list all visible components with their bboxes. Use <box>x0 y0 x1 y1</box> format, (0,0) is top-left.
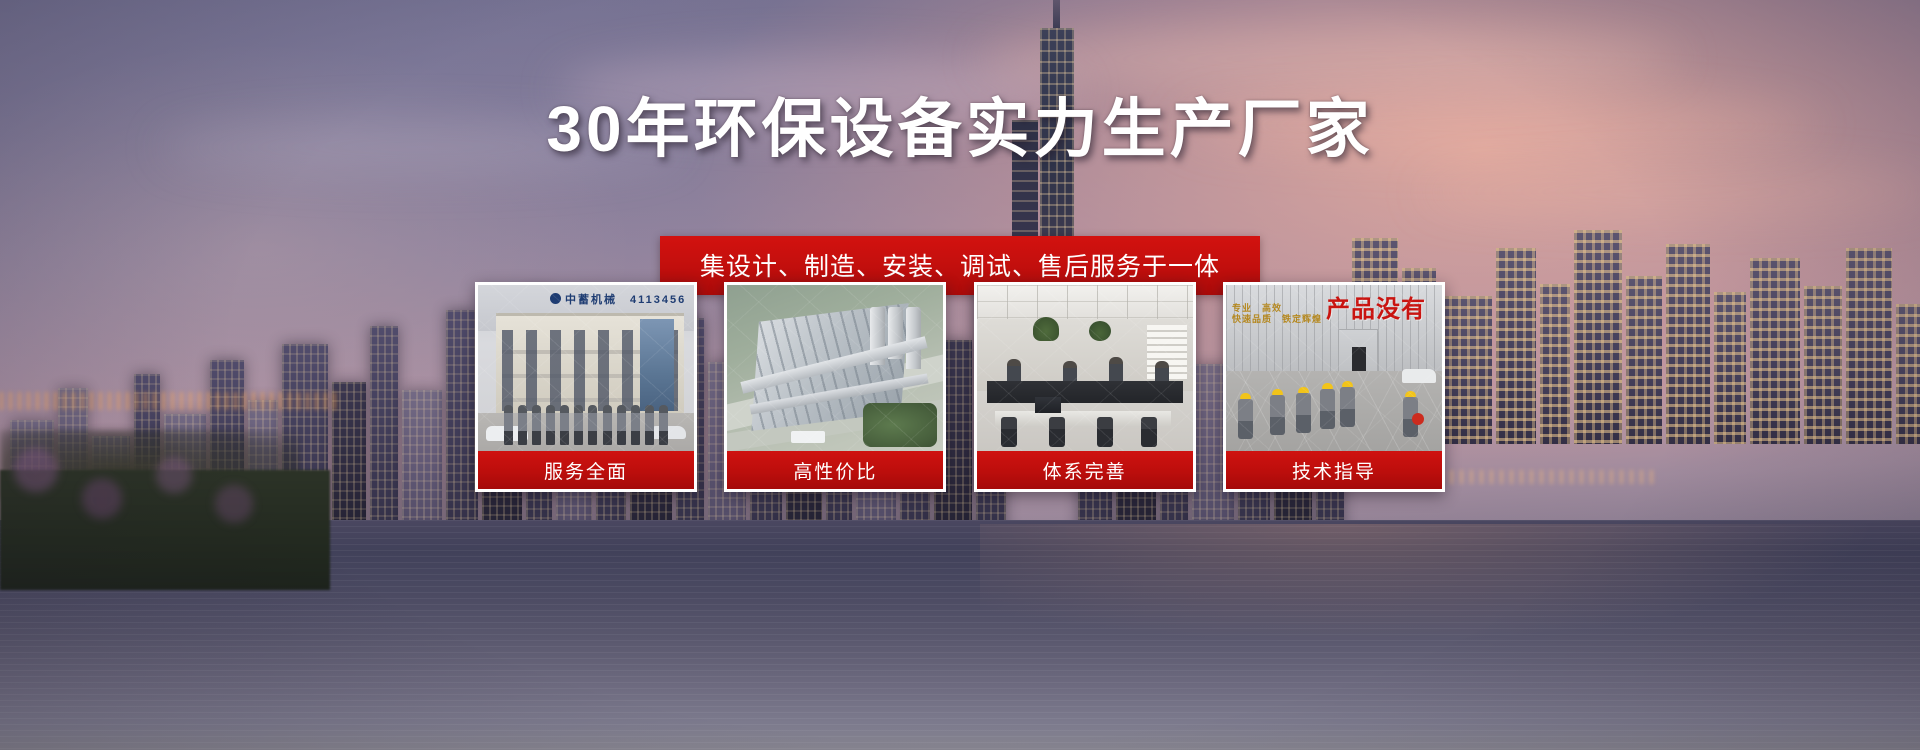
factory-slogan-gold: 专业 高效 快速品质 铁定辉煌 <box>1232 303 1322 326</box>
card-caption: 技术指导 <box>1226 451 1442 489</box>
feature-card[interactable]: 中蓄机械 4113456 服务全面 <box>475 282 697 492</box>
office-meeting-interior-photo <box>977 285 1193 457</box>
feature-card[interactable]: 专业 高效 快速品质 铁定辉煌 产品没有 技术指导 <box>1223 282 1445 492</box>
card-caption: 高性价比 <box>727 451 943 489</box>
feature-card[interactable]: 高性价比 <box>724 282 946 492</box>
staff-lineup <box>504 405 668 449</box>
building-logo-text: 中蓄机械 4113456 <box>550 291 686 307</box>
feature-card[interactable]: 体系完善 <box>974 282 1196 492</box>
hero-banner: 30年环保设备实力生产厂家 集设计、制造、安装、调试、售后服务于一体 中蓄机械 … <box>0 0 1920 750</box>
factory-slogan-red: 产品没有 <box>1326 289 1438 324</box>
card-caption: 体系完善 <box>977 451 1193 489</box>
company-office-building-photo: 中蓄机械 4113456 <box>478 285 694 457</box>
aerial-industrial-plant-photo <box>727 285 943 457</box>
red-helmet <box>1412 413 1424 425</box>
factory-yard-workers-photo: 专业 高效 快速品质 铁定辉煌 产品没有 <box>1226 285 1442 457</box>
bridge-lights <box>0 392 340 410</box>
feature-card-row: 中蓄机械 4113456 服务全面 <box>475 282 1445 502</box>
page-title: 30年环保设备实力生产厂家 <box>0 96 1920 163</box>
purple-lit-trees <box>0 418 300 548</box>
card-caption: 服务全面 <box>478 451 694 489</box>
water-reflection-glow <box>980 524 1880 644</box>
